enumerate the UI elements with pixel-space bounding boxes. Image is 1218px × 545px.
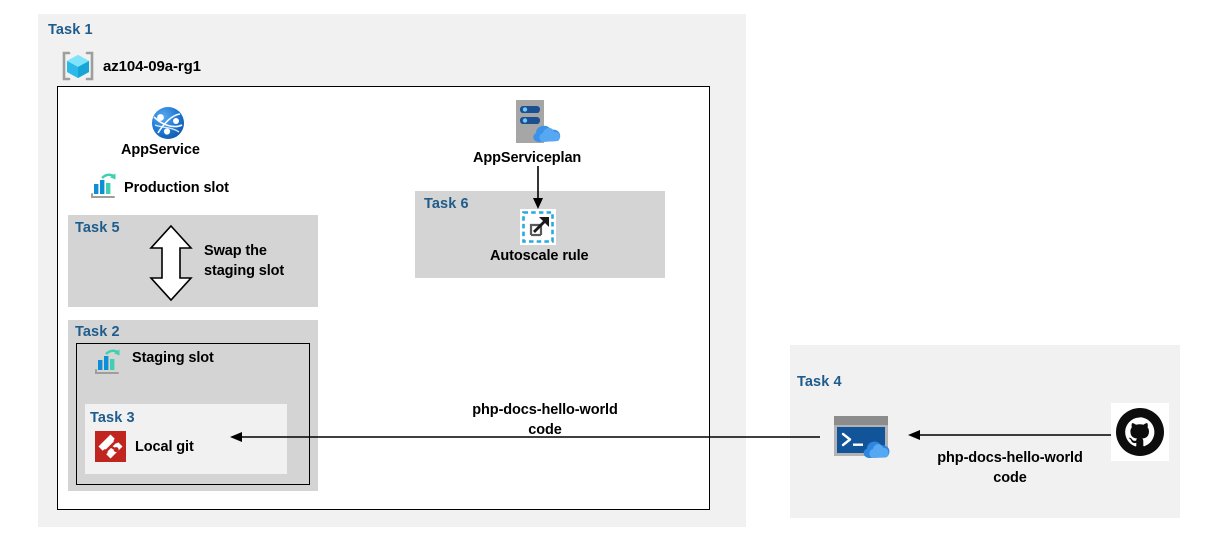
production-slot-label: Production slot xyxy=(124,180,229,196)
edge-label-line1: php-docs-hello-world xyxy=(937,450,1082,466)
edge-label-line1: php-docs-hello-world xyxy=(472,402,617,418)
resource-group-label: az104-09a-rg1 xyxy=(103,58,201,75)
swap-slot-label-line1: Swap the xyxy=(204,243,267,259)
autoscale-icon xyxy=(520,209,556,245)
staging-slot-label: Staging slot xyxy=(132,350,214,366)
swap-slot-label-line2: staging slot xyxy=(204,263,284,279)
github-to-cloudshell-label: php-docs-hello-world code xyxy=(912,449,1108,488)
edge-label-line2: code xyxy=(993,470,1026,486)
git-icon xyxy=(95,431,126,462)
diagram-canvas: Task 1 az104-09a-rg1 xyxy=(0,0,1218,545)
swap-slot-label: Swap the staging slot xyxy=(204,242,284,281)
task2-label: Task 2 xyxy=(75,324,120,340)
github-icon xyxy=(1111,403,1169,461)
app-service-icon xyxy=(148,103,188,143)
local-git-label: Local git xyxy=(135,439,194,455)
app-service-plan-label: AppServiceplan xyxy=(473,150,581,166)
app-service-label: AppService xyxy=(121,142,200,158)
deployment-slot-icon-staging xyxy=(93,348,123,376)
cloud-shell-icon xyxy=(832,414,898,458)
cloudshell-to-localgit-label: php-docs-hello-world code xyxy=(447,401,643,440)
edge-label-line2: code xyxy=(528,422,561,438)
task1-label: Task 1 xyxy=(48,22,93,38)
task4-label: Task 4 xyxy=(797,374,842,390)
task3-label: Task 3 xyxy=(90,410,135,426)
app-service-plan-icon xyxy=(512,98,568,146)
autoscale-rule-label: Autoscale rule xyxy=(490,248,589,264)
task6-label: Task 6 xyxy=(424,196,469,212)
resource-group-icon xyxy=(60,48,96,84)
deployment-slot-icon-production xyxy=(89,172,119,200)
task5-label: Task 5 xyxy=(75,220,120,236)
swap-double-arrow-icon xyxy=(148,224,194,302)
